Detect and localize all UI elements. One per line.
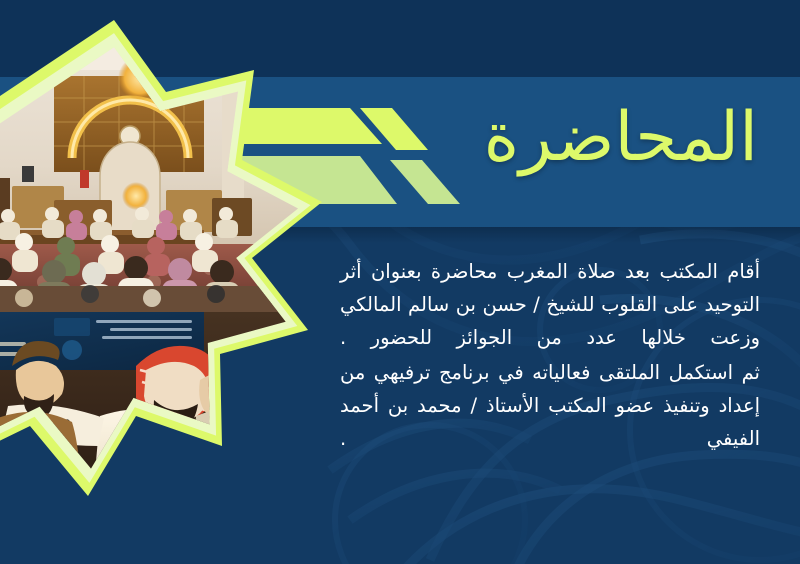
figure-background-guest xyxy=(188,373,280,534)
eight-point-star-photo-frame xyxy=(0,18,324,528)
body-paragraph-2: ثم استكمل الملتقى فعالياته في برنامج ترف… xyxy=(340,356,760,455)
body-copy: أقام المكتب بعد صلاة المغرب محاضرة بعنوا… xyxy=(340,255,760,457)
poster-canvas: المحاضرة أقام المكتب بعد صلاة المغرب محا… xyxy=(0,0,800,564)
body-paragraph-1: أقام المكتب بعد صلاة المغرب محاضرة بعنوا… xyxy=(340,255,760,354)
page-title: المحاضرة xyxy=(338,104,758,172)
